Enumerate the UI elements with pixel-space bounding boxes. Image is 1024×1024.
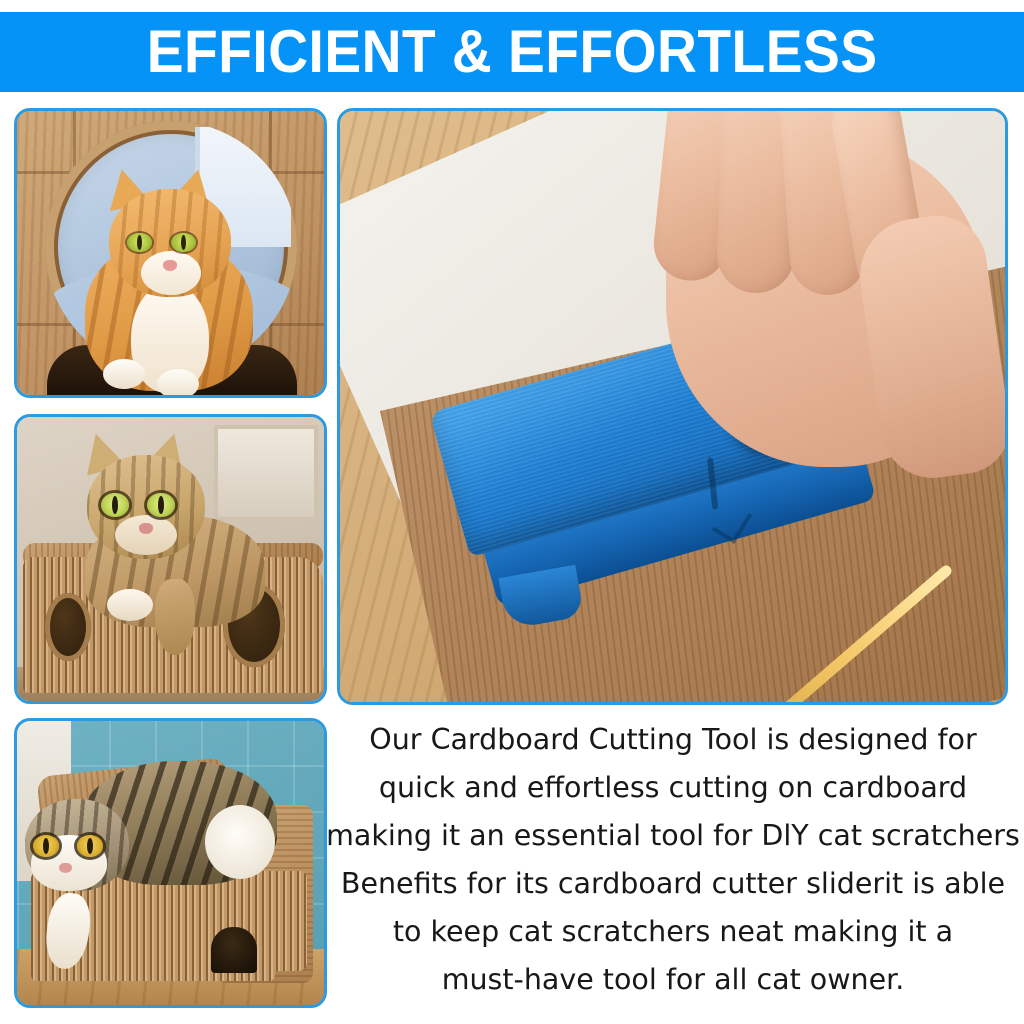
description-line: Our Cardboard Cutting Tool is designed f…: [369, 716, 976, 764]
cat-eye-left: [33, 835, 59, 857]
cat-photo-2: [17, 417, 324, 701]
product-marketing-image: EFFICIENT & EFFORTLESS: [0, 0, 1024, 1024]
cat-paw: [107, 589, 153, 621]
description-line: must-have tool for all cat owner.: [442, 956, 905, 1004]
header-banner: EFFICIENT & EFFORTLESS: [0, 12, 1024, 92]
cat-eye-right: [77, 835, 103, 857]
description-line: Benefits for its cardboard cutter slider…: [341, 860, 1005, 908]
cutting-direction-arrow-icon: [718, 559, 962, 702]
cat-eye-left: [101, 493, 129, 517]
cat-leg: [155, 579, 195, 655]
human-hand: [570, 111, 1005, 511]
cat-photo-1: [17, 111, 324, 395]
cat-paw-right: [157, 369, 199, 395]
cat-nose: [163, 260, 177, 271]
description-line: to keep cat scratchers neat making it a: [393, 908, 953, 956]
description-line: quick and effortless cutting on cardboar…: [379, 764, 967, 812]
cat-eye-right: [171, 233, 196, 252]
photo-panel-cat-on-cardboard-lounger: [14, 718, 327, 1008]
cat-eye-right: [147, 493, 175, 517]
description-line: making it an essential tool for DlY cat …: [326, 812, 1020, 860]
cat-eye-left: [127, 233, 152, 252]
tabby-cat-lounging: [23, 747, 279, 947]
cat-nose: [139, 523, 153, 534]
orange-tabby-cat: [79, 163, 259, 393]
hero-photo-panel-tool-in-use: [337, 108, 1008, 705]
cat-photo-3: [17, 721, 324, 1005]
cat-ear-left: [28, 773, 62, 784]
cat-nose: [59, 863, 72, 873]
cat-paw-left: [103, 359, 145, 389]
cat-white-rump: [205, 805, 275, 879]
brown-tabby-cat: [59, 431, 269, 641]
photo-panel-cat-in-round-cardboard-cutout: [14, 108, 327, 398]
banner-title: EFFICIENT & EFFORTLESS: [147, 22, 878, 82]
product-description: Our Cardboard Cutting Tool is designed f…: [330, 716, 1016, 1016]
photo-panel-cat-on-corrugated-cardboard-house: [14, 414, 327, 704]
cat-muzzle: [115, 515, 177, 555]
cat-muzzle: [141, 251, 201, 295]
hero-photo: [340, 111, 1005, 702]
